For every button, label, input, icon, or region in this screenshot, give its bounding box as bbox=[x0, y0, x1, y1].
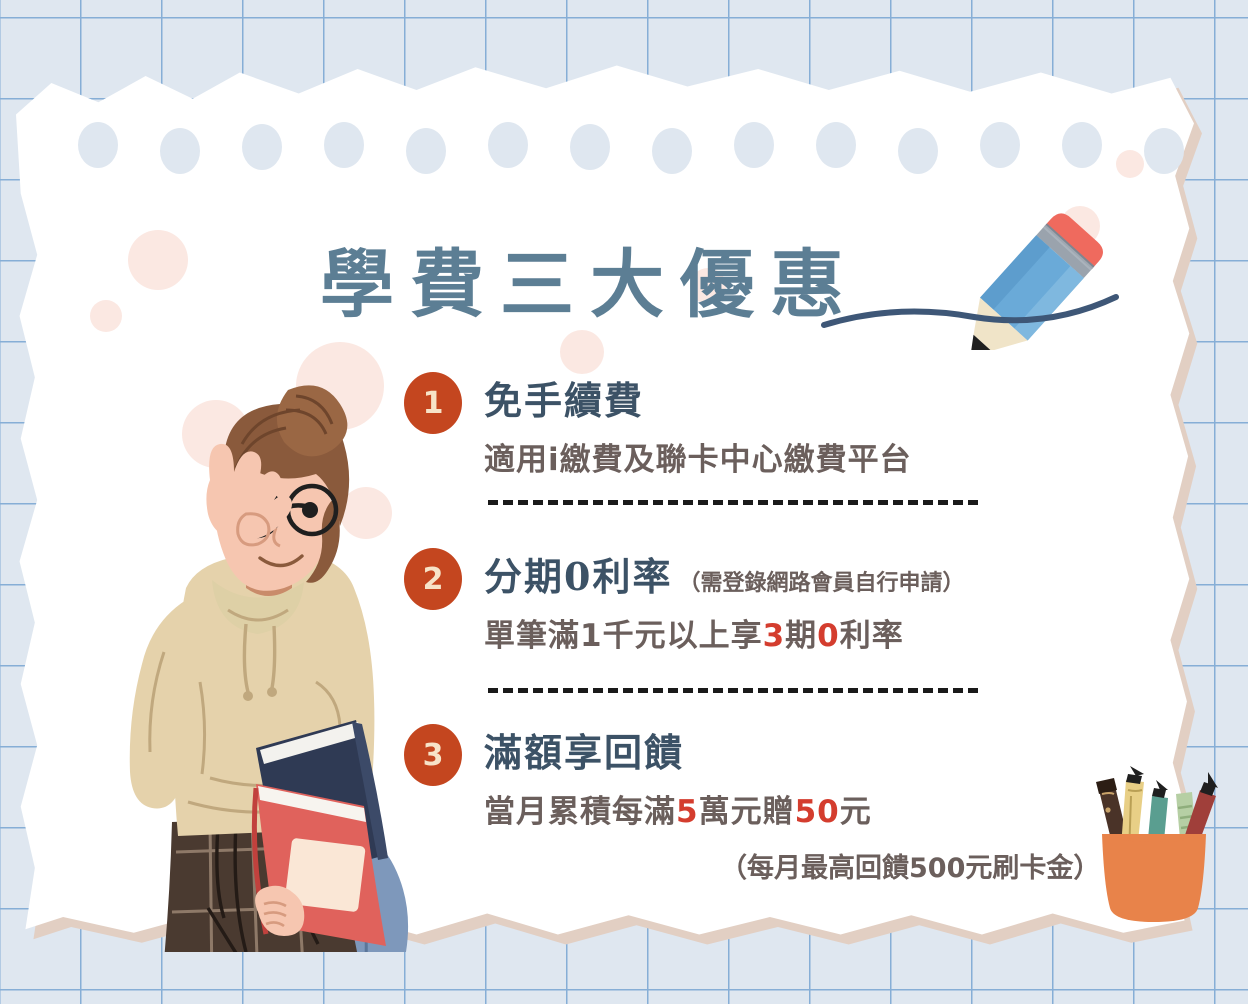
punch-hole bbox=[652, 128, 692, 174]
pink-dot bbox=[90, 300, 122, 332]
punch-hole bbox=[488, 122, 528, 168]
benefit-subtext-part: 當月累積每滿 bbox=[484, 794, 676, 830]
benefit-heading-text: 滿額享回饋 bbox=[484, 730, 684, 775]
benefit-heading-text: 分期0利率 bbox=[484, 554, 672, 599]
poster-title-group: 學費三大優惠 bbox=[300, 215, 1120, 335]
benefit-number-badge: 2 bbox=[404, 548, 462, 610]
punch-hole bbox=[406, 128, 446, 174]
benefit-highlight-value: 5 bbox=[676, 794, 699, 830]
pink-dot bbox=[560, 330, 604, 374]
pink-dot bbox=[1116, 150, 1144, 178]
benefit-footnote: （每月最高回饋500元刷卡金） bbox=[720, 846, 1100, 885]
punch-hole bbox=[1144, 128, 1184, 174]
benefit-subtext-part: 單筆滿1千元以上享 bbox=[484, 618, 763, 654]
benefit-subtext-part: 萬元贈 bbox=[699, 794, 795, 830]
benefit-heading-note: （需登錄網路會員自行申請） bbox=[678, 571, 964, 596]
benefit-subtext-part: 期 bbox=[785, 618, 817, 654]
punch-hole bbox=[734, 122, 774, 168]
punch-hole bbox=[324, 122, 364, 168]
benefit-subtext: 當月累積每滿5萬元贈50元 bbox=[484, 786, 872, 831]
benefit-number-badge: 1 bbox=[404, 372, 462, 434]
benefit-heading: 滿額享回饋 bbox=[484, 722, 684, 777]
pink-dot bbox=[128, 230, 188, 290]
punch-hole bbox=[980, 122, 1020, 168]
benefit-subtext-part: 元 bbox=[840, 794, 872, 830]
dashed-divider bbox=[488, 500, 978, 505]
punch-hole bbox=[1062, 122, 1102, 168]
benefit-subtext: 單筆滿1千元以上享3期0利率 bbox=[484, 610, 904, 655]
pencil-cup-illustration bbox=[1068, 752, 1238, 932]
benefit-number-badge: 3 bbox=[404, 724, 462, 786]
benefit-heading: 分期0利率（需登錄網路會員自行申請） bbox=[484, 546, 964, 601]
punch-hole bbox=[160, 128, 200, 174]
student-with-books-illustration bbox=[60, 352, 420, 952]
punch-hole bbox=[242, 124, 282, 170]
benefit-highlight-value: 3 bbox=[763, 618, 786, 654]
punch-hole bbox=[898, 128, 938, 174]
punch-hole bbox=[816, 122, 856, 168]
page-title: 學費三大優惠 bbox=[320, 225, 860, 332]
benefit-subtext-part: 適用i繳費及聯卡中心繳費平台 bbox=[484, 442, 912, 478]
benefit-subtext-part: 利率 bbox=[840, 618, 904, 654]
dashed-divider bbox=[488, 688, 978, 693]
benefit-subtext: 適用i繳費及聯卡中心繳費平台 bbox=[484, 434, 912, 479]
benefit-heading-text: 免手續費 bbox=[484, 378, 644, 423]
benefit-highlight-value: 50 bbox=[795, 794, 840, 830]
benefit-highlight-value: 0 bbox=[817, 618, 840, 654]
punch-hole bbox=[570, 124, 610, 170]
punch-hole bbox=[78, 122, 118, 168]
swoosh-underline-icon bbox=[820, 293, 1120, 343]
benefit-heading: 免手續費 bbox=[484, 370, 644, 425]
